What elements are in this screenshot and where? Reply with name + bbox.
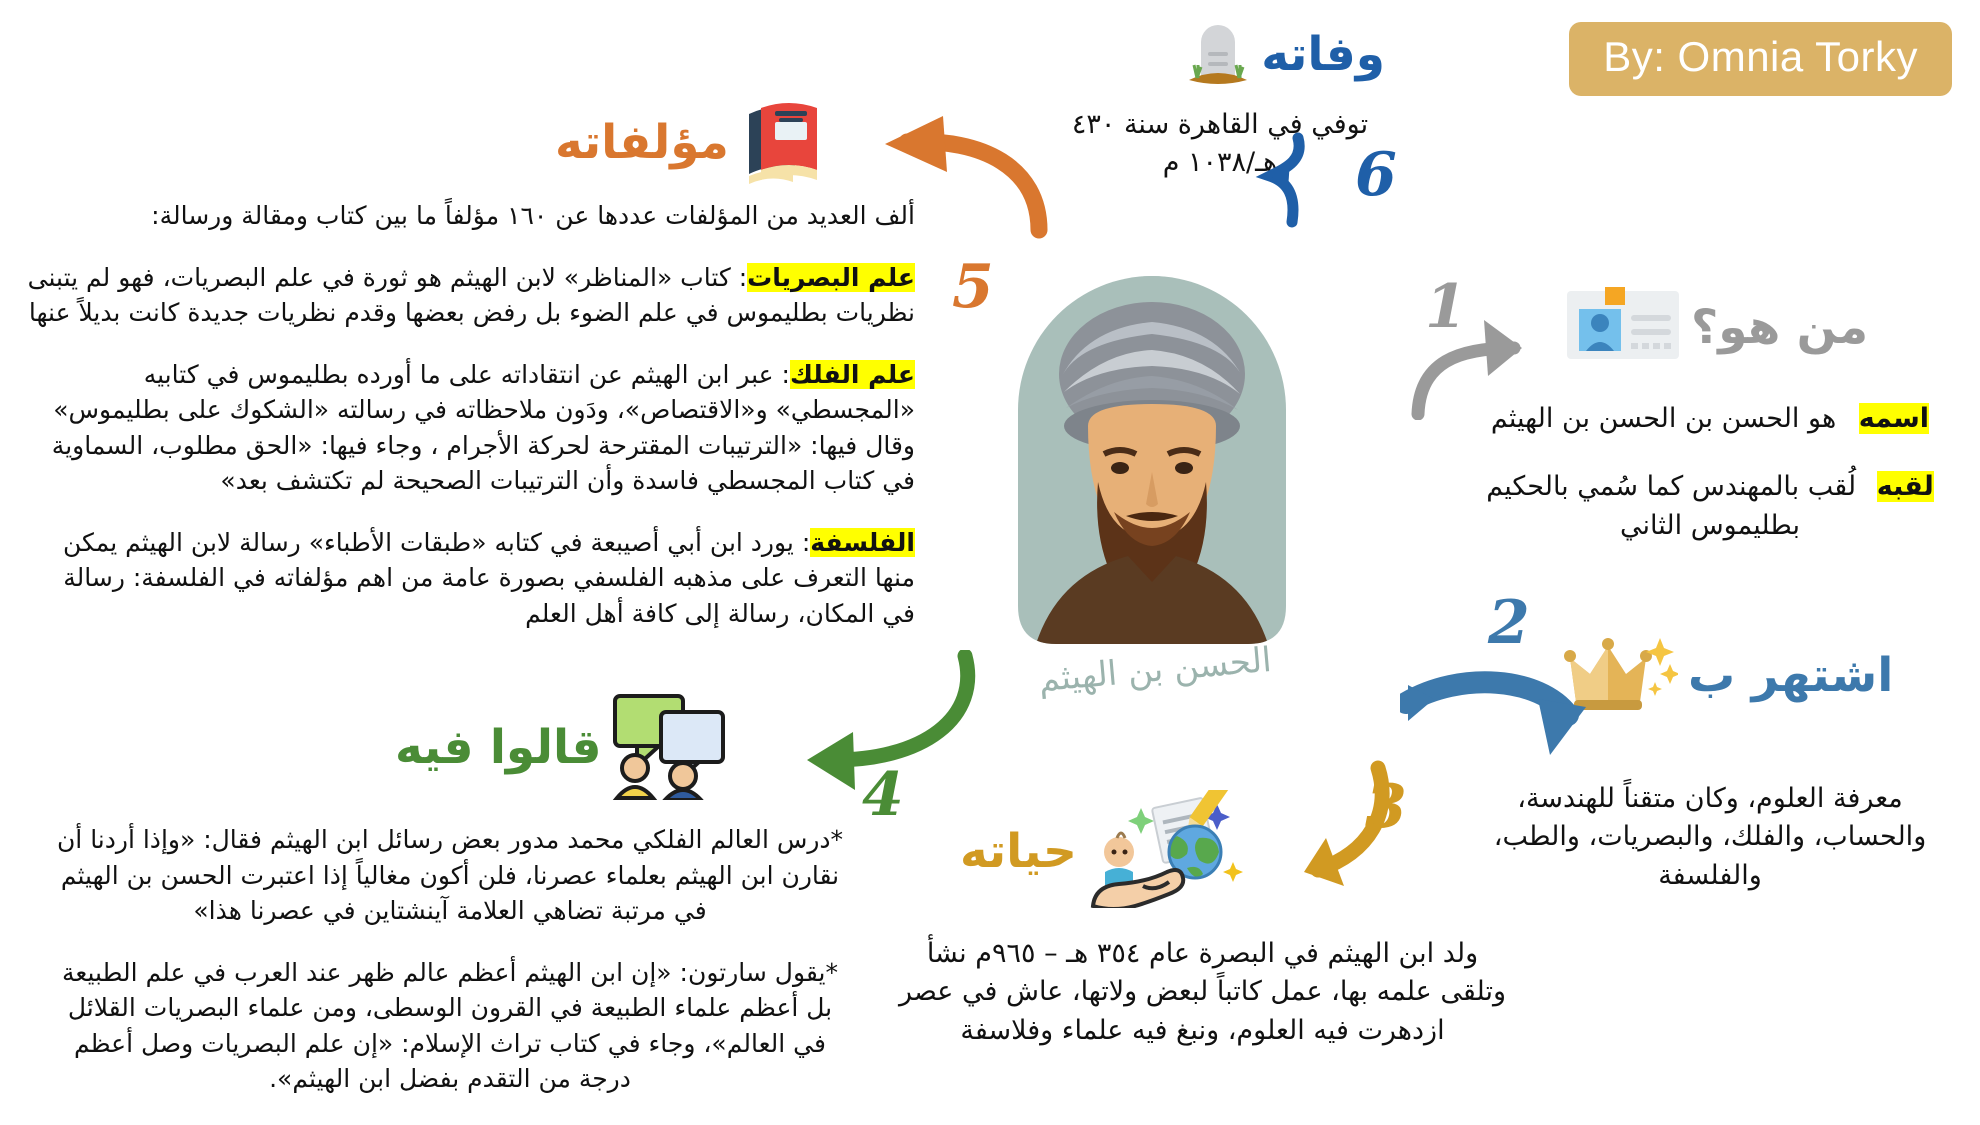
- section-4-title: قالوا فيه: [395, 720, 601, 775]
- item-name-row: اسمه هو الحسن بن الحسن بن الهيثم: [1455, 400, 1965, 438]
- topic-philosophy-text: : يورد ابن أبي أصيبعة في كتابه «طبقات ال…: [63, 528, 915, 628]
- works-topic-optics: علم البصريات: كتاب «المناظر» لابن الهيثم…: [25, 260, 915, 331]
- quote-2-text: *يقول سارتون: «إن ابن الهيثم أعظم عالم ظ…: [62, 958, 838, 1094]
- section-2-title: اشتهر ب: [1688, 648, 1893, 703]
- step-5-number: 5: [952, 252, 994, 322]
- section-1-title: من هو؟: [1691, 300, 1868, 355]
- speech-bubbles-icon: [611, 690, 731, 804]
- topic-astronomy-text: : عبر ابن الهيثم عن انتقاداته على ما أور…: [52, 360, 915, 496]
- section-2-body: معرفة العلوم، وكان متقناً للهندسة، والحس…: [1475, 780, 1945, 895]
- step-1-number: 1: [1425, 272, 1467, 342]
- books-icon: [739, 92, 835, 192]
- section-6-body: توفي في القاهرة سنة ٤٣٠ هـ/١٠٣٨ م: [1055, 106, 1385, 183]
- topic-optics-label: علم البصريات: [747, 263, 915, 292]
- ibn-al-haytham-portrait-svg: [1018, 276, 1286, 644]
- step-2-arrow: [1400, 655, 1590, 779]
- item-title-value: لُقب بالمهندس كما سُمي بالحكيم بطليموس ا…: [1486, 471, 1856, 540]
- quote-item: *يقول سارتون: «إن ابن الهيثم أعظم عالم ظ…: [55, 955, 845, 1097]
- section-1-who: من هو؟: [1565, 285, 1868, 369]
- section-4-quote-list: *درس العالم الفلكي محمد مدور بعض رسائل ا…: [55, 822, 845, 1097]
- step-2-number: 2: [1488, 588, 1530, 658]
- topic-astronomy-label: علم الفلك: [790, 360, 915, 389]
- tombstone-icon: [1185, 16, 1251, 92]
- id-card-icon: [1565, 285, 1681, 369]
- section-2-famous: اشتهر ب: [1560, 630, 1893, 720]
- portrait-image: [1018, 276, 1286, 644]
- works-topic-philosophy: الفلسفة: يورد ابن أبي أصيبعة في كتابه «ط…: [25, 525, 915, 632]
- item-title-label: لقبه: [1877, 471, 1934, 502]
- section-5-content: ألف العديد من المؤلفات عددها عن ١٦٠ مؤلف…: [25, 198, 915, 631]
- step-6-arrow: [1240, 130, 1320, 244]
- hand-globe-icon: [1087, 790, 1265, 912]
- step-6-number: 6: [1355, 140, 1397, 210]
- item-name-label: اسمه: [1859, 403, 1929, 434]
- section-4-quotes: قالوا فيه: [395, 690, 731, 804]
- section-6-death: وفاته توفي في القاهرة سنة ٤٣٠ هـ/١٠٣٨ م: [1055, 16, 1385, 183]
- section-1-items: اسمه هو الحسن بن الحسن بن الهيثم لقبه لُ…: [1455, 400, 1965, 545]
- step-4-number: 4: [862, 760, 904, 830]
- works-intro: ألف العديد من المؤلفات عددها عن ١٦٠ مؤلف…: [25, 198, 915, 234]
- step-3-number: 3: [1365, 772, 1407, 842]
- works-topic-astronomy: علم الفلك: عبر ابن الهيثم عن انتقاداته ع…: [25, 357, 915, 499]
- author-badge: By: Omnia Torky: [1569, 22, 1952, 96]
- quote-1-text: *درس العالم الفلكي محمد مدور بعض رسائل ا…: [57, 825, 843, 925]
- section-6-title: وفاته: [1261, 27, 1385, 82]
- step-4-arrow: [735, 650, 985, 804]
- topic-philosophy-label: الفلسفة: [810, 528, 915, 557]
- section-3-title: حياته: [960, 824, 1077, 879]
- item-title-row: لقبه لُقب بالمهندس كما سُمي بالحكيم بطلي…: [1455, 468, 1965, 545]
- section-5-title: مؤلفاته: [555, 115, 729, 170]
- quote-item: *درس العالم الفلكي محمد مدور بعض رسائل ا…: [55, 822, 845, 929]
- section-3-life: حياته: [960, 790, 1265, 912]
- portrait-caption: الحسن بن الهيثم: [974, 634, 1336, 705]
- item-name-value: هو الحسن بن الحسن بن الهيثم: [1491, 403, 1836, 434]
- section-5-works: مؤلفاته: [555, 92, 835, 192]
- infographic-canvas: By: Omnia Torky: [0, 0, 1980, 1125]
- section-3-body: ولد ابن الهيثم في البصرة عام ٣٥٤ هـ – ٩٦…: [895, 935, 1510, 1050]
